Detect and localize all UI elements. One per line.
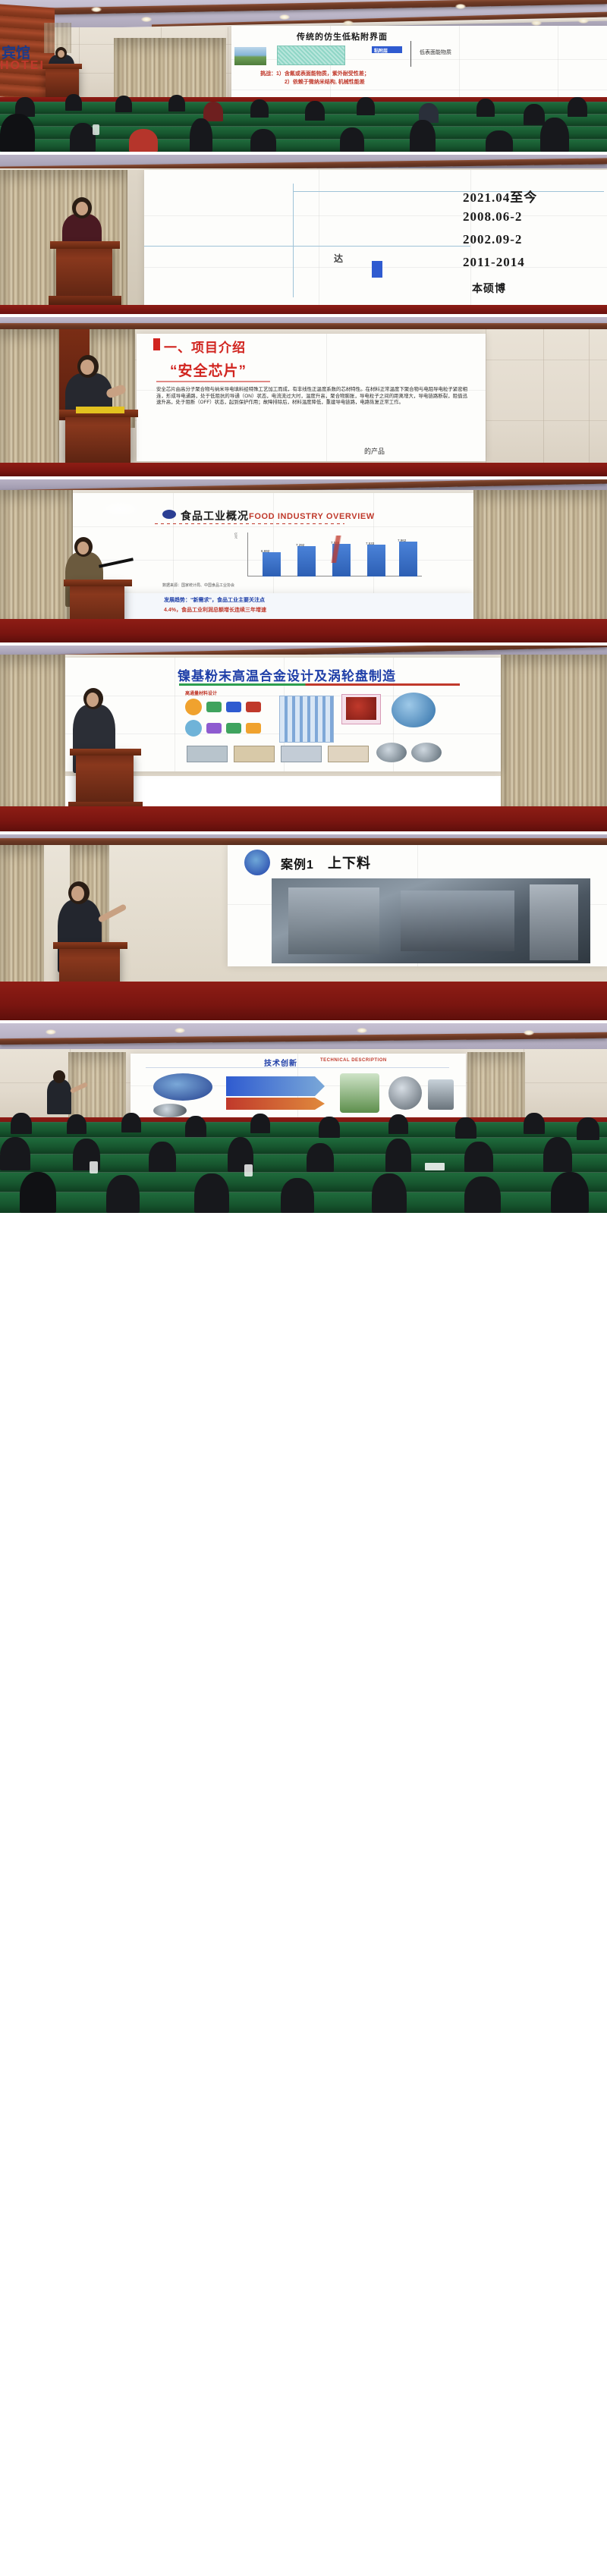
organization-logo-icon — [244, 850, 270, 875]
slide-title: 镍基粉末高温合金设计及涡轮盘制造 — [178, 665, 396, 684]
paper-sheet — [425, 1163, 445, 1170]
podium — [56, 244, 112, 300]
slide-title-cn: 技术创新 — [264, 1057, 297, 1068]
podium — [65, 413, 131, 463]
photo-technical-innovation-audience[interactable]: 技术创新 TECHNICAL DESCRIPTION — [0, 1023, 607, 1213]
slide-subtitle: 高通量材料设计 — [185, 690, 217, 696]
photo-safety-chip-project[interactable]: 一、项目介绍 “安全芯片” 安全芯片由高分子聚合物与纳米导电填料经特殊工艺加工而… — [0, 317, 607, 476]
photo-food-industry-overview[interactable]: 食品工业概况 FOOD INDUSTRY OVERVIEW 6,692 7,29… — [0, 479, 607, 642]
podium — [46, 65, 79, 97]
slide-title: 上下料 — [328, 853, 371, 872]
projection-screen: 案例1 上下料 — [228, 845, 607, 966]
speaker — [47, 1079, 71, 1114]
photo-gallery: 宾馆 HOTEL 传统的仿生低粘附界面 粘附层 低表面能物质 挑战：1）含氟或表… — [0, 0, 607, 1213]
slide-case-label: 案例1 — [281, 854, 314, 872]
slide-label-right: 低表面能物质 — [420, 49, 451, 56]
podium — [76, 752, 134, 805]
chart-note: 数据来源：国家统计局、中国食品工业协会 — [162, 583, 234, 588]
slide-body: 安全芯片由高分子聚合物与纳米导电填料经特殊工艺加工而成，有非线性正温度系数的芯材… — [156, 387, 467, 407]
projection-screen: 一、项目介绍 “安全芯片” 安全芯片由高分子聚合物与纳米导电填料经特殊工艺加工而… — [137, 334, 486, 461]
slide-note-1: 挑战：1）含氟或表面能物质，紫外耐受性差； — [260, 70, 370, 77]
slide-footer: 的产品 — [364, 446, 385, 456]
highlight-2: 4.4%，食品工业利润总额增长连续三年增速 — [164, 606, 266, 614]
cv-line-1: 2021.04至今 — [463, 187, 537, 206]
projection-screen: 2021.04至今 2008.06-2 2002.09-2 2011-2014 … — [144, 170, 607, 314]
slide-note-2: 2）依赖于微纳米结构, 机械性能差 — [285, 78, 365, 86]
slide-highlight-band: 发展趋势：“新需求”，食品工业主要关注点 4.4%，食品工业利润总额增长连续三年… — [73, 593, 473, 619]
highlight-1: 发展趋势：“新需求”，食品工业主要关注点 — [164, 596, 265, 604]
water-bottle — [244, 1164, 253, 1176]
slide-title: 传统的仿生低粘附界面 — [297, 30, 388, 42]
bullet-dot-icon — [162, 510, 176, 519]
bar-chart: 6,692 7,292 7,566 7,533 7,962 — [247, 532, 422, 576]
slide-title-en: FOOD INDUSTRY OVERVIEW — [249, 512, 375, 521]
slide-title: “安全芯片” — [170, 360, 247, 380]
slide-title-en: TECHNICAL DESCRIPTION — [320, 1058, 387, 1063]
cv-left-note: 达 — [334, 252, 344, 265]
water-bottle — [90, 1161, 98, 1173]
podium-banner — [76, 407, 124, 413]
cv-line-4: 2011-2014 — [463, 255, 525, 270]
photo-lecture-hall-wide[interactable]: 宾馆 HOTEL 传统的仿生低粘附界面 粘附层 低表面能物质 挑战：1）含氟或表… — [0, 0, 607, 152]
photo-nickel-superalloy[interactable]: 镍基粉末高温合金设计及涡轮盘制造 高通量材料设计 — [0, 646, 607, 831]
projection-screen: 技术创新 TECHNICAL DESCRIPTION — [131, 1054, 466, 1119]
projection-screen: 传统的仿生低粘附界面 粘附层 低表面能物质 挑战：1）含氟或表面能物质，紫外耐受… — [231, 26, 607, 105]
water-bottle — [93, 124, 99, 135]
slide-label-box: 粘附层 — [374, 47, 388, 54]
cv-line-3: 2002.09-2 — [463, 232, 522, 247]
cv-blue-bar — [372, 261, 382, 278]
photo-case-one-loading[interactable]: 案例1 上下料 male speaker gesturing, slide sh… — [0, 834, 607, 1020]
venue-sign-en: HOTEL — [0, 59, 49, 73]
cv-footer: 本硕博 — [472, 281, 506, 296]
photo-female-speaker-cv-slide[interactable]: 2021.04至今 2008.06-2 2002.09-2 2011-2014 … — [0, 155, 607, 314]
cv-line-2: 2008.06-2 — [463, 209, 522, 225]
video-wall: 食品工业概况 FOOD INDUSTRY OVERVIEW 6,692 7,29… — [73, 493, 473, 593]
slide-section: 一、项目介绍 — [164, 337, 246, 356]
slide-title-cn: 食品工业概况 — [181, 508, 249, 523]
